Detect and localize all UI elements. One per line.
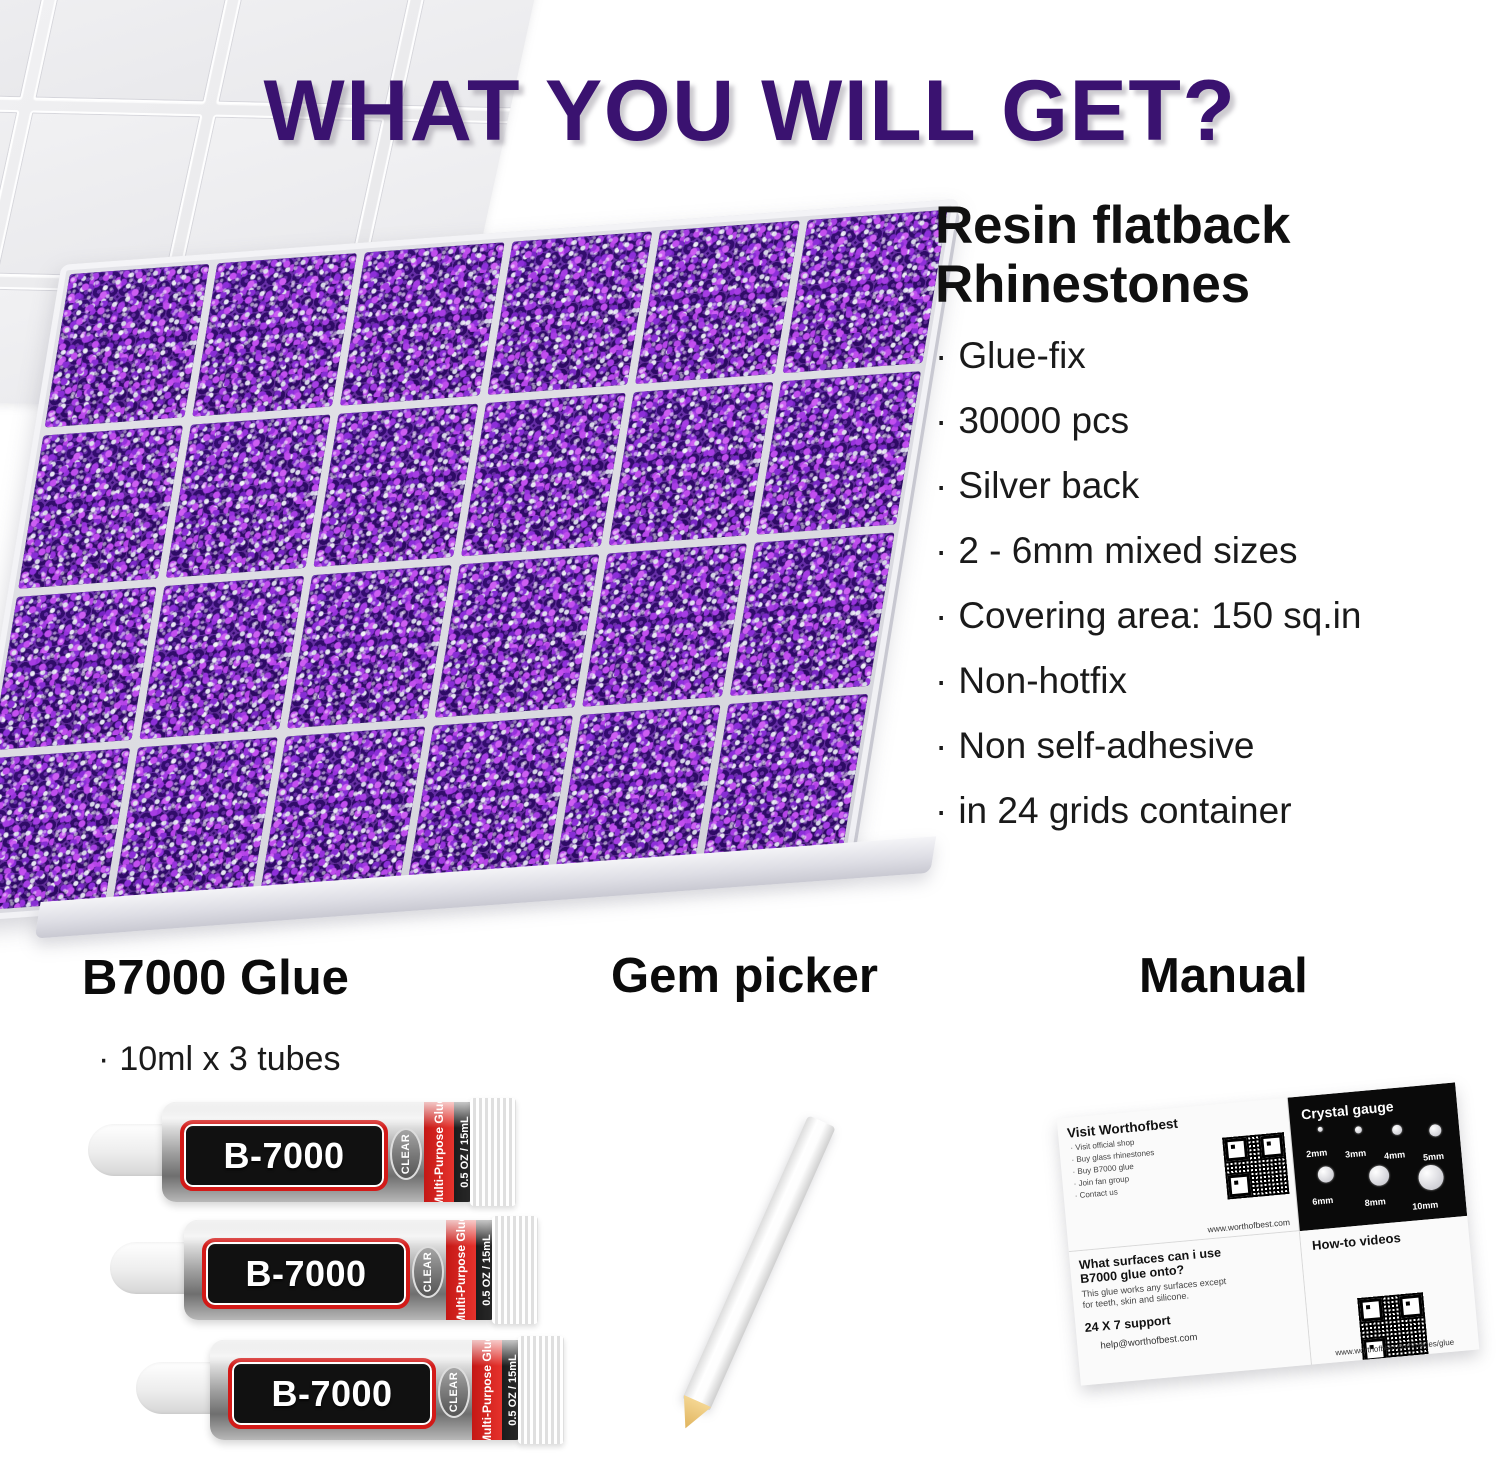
grid-cell: [313, 404, 478, 568]
tube-body: B-7000 CLEAR Multi-Purpose Glue 0.5 OZ /…: [184, 1220, 494, 1320]
section-heading-glue: B7000 Glue: [82, 950, 349, 1006]
grid-cell: [609, 382, 774, 546]
tube-brand-text: B-7000: [184, 1135, 384, 1177]
glue-quantity-text: 10ml x 3 tubes: [119, 1040, 340, 1078]
bullet-dot-icon: ·: [935, 662, 947, 699]
grid-cell: [487, 231, 652, 395]
grid-cell: [703, 694, 868, 858]
bullet-dot-icon: ·: [935, 532, 947, 569]
tube-brand-plate: B-7000: [228, 1358, 436, 1429]
videos-heading: How-to videos: [1311, 1225, 1460, 1253]
manual-quadrant-videos: How-to videos www.worthofbest.com/pages/…: [1300, 1216, 1480, 1365]
gauge-gem: [1417, 1164, 1444, 1191]
grid-cell: [113, 737, 278, 901]
spec-bullet-text: Silver back: [958, 465, 1139, 506]
gauge-gem: [1428, 1123, 1441, 1136]
grid-cell: [730, 532, 895, 696]
spec-bullet-item: ·in 24 grids container: [935, 792, 1480, 829]
grid-cell: [0, 748, 130, 912]
bullet-dot-icon: ·: [98, 1040, 109, 1078]
tube-brand-text: B-7000: [232, 1373, 432, 1415]
crystal-gauge-chart: 2mm 3mm 4mm 5mm 6mm 8mm 10mm: [1290, 1108, 1467, 1227]
rhinestone-grid: [0, 210, 947, 912]
qr-code-shop: [1222, 1132, 1289, 1199]
grid-cell: [556, 705, 721, 869]
spec-bullet-item: ·Covering area: 150 sq.in: [935, 597, 1480, 634]
grid-cell: [461, 393, 626, 557]
gem-picker-pencil: [682, 1115, 835, 1410]
spec-bullet-item: ·2 - 6mm mixed sizes: [935, 532, 1480, 569]
pencil-wax-tip: [672, 1395, 712, 1435]
grid-cell: [0, 587, 157, 751]
tube-brand-plate: B-7000: [180, 1120, 388, 1191]
spec-bullet-list: ·Glue-fix ·30000 pcs ·Silver back ·2 - 6…: [935, 337, 1480, 829]
spec-bullet-item: ·Non-hotfix: [935, 662, 1480, 699]
visit-url: www.worthofbest.com: [1207, 1217, 1290, 1234]
grid-cell: [45, 264, 210, 428]
gauge-label: 10mm: [1412, 1200, 1439, 1212]
tube-purpose-strip: Multi-Purpose Glue: [424, 1102, 454, 1202]
gauge-gem: [1368, 1165, 1390, 1187]
tube-body: B-7000 CLEAR Multi-Purpose Glue 0.5 OZ /…: [210, 1340, 520, 1440]
gauge-label: 3mm: [1345, 1148, 1367, 1160]
grid-cell: [635, 221, 800, 385]
gem-picker-photo: [648, 1090, 948, 1440]
grid-cell: [340, 242, 505, 406]
spec-bullet-text: Glue-fix: [958, 335, 1085, 376]
gauge-gem: [1391, 1125, 1402, 1136]
section-heading-gem-picker: Gem picker: [611, 948, 878, 1004]
manual-card-photo: Visit Worthofbest · Visit official shop …: [1068, 1100, 1480, 1400]
tube-clear-badge: CLEAR: [438, 1366, 470, 1418]
section-heading-manual: Manual: [1139, 948, 1308, 1004]
grid-cell: [783, 210, 948, 374]
gauge-label: 5mm: [1423, 1150, 1445, 1162]
glue-tube: B-7000 CLEAR Multi-Purpose Glue 0.5 OZ /…: [110, 1216, 540, 1324]
spec-panel: Resin flatback Rhinestones ·Glue-fix ·30…: [935, 196, 1480, 857]
bullet-dot-icon: ·: [935, 597, 947, 634]
glue-tube: B-7000 CLEAR Multi-Purpose Glue 0.5 OZ /…: [136, 1336, 566, 1444]
manual-card: Visit Worthofbest · Visit official shop …: [1057, 1082, 1480, 1385]
gauge-gem: [1354, 1126, 1362, 1134]
spec-bullet-text: Non self-adhesive: [958, 725, 1254, 766]
grid-cell: [261, 726, 426, 890]
tube-crimp: [470, 1098, 516, 1206]
tube-purpose-strip: Multi-Purpose Glue: [472, 1340, 502, 1440]
glue-quantity-bullet: ·10ml x 3 tubes: [98, 1040, 340, 1079]
spec-heading-line1: Resin flatback: [935, 196, 1290, 255]
bullet-dot-icon: ·: [935, 467, 947, 504]
tube-clear-badge: CLEAR: [412, 1246, 444, 1298]
page-title: WHAT YOU WILL GET?: [0, 62, 1500, 161]
gauge-label: 6mm: [1312, 1195, 1334, 1207]
grid-cell: [139, 576, 304, 740]
gauge-label: 4mm: [1384, 1150, 1406, 1162]
grid-cell: [192, 253, 357, 417]
infographic-canvas: WHAT YOU WILL GET? Resin flatback Rhines…: [0, 0, 1500, 1473]
manual-quadrant-visit: Visit Worthofbest · Visit official shop …: [1057, 1098, 1300, 1252]
manual-quadrant-faq: What surfaces can i use B7000 glue onto?…: [1069, 1231, 1312, 1385]
tube-crimp: [492, 1216, 538, 1324]
gauge-gem: [1318, 1166, 1335, 1183]
tube-purpose-strip: Multi-Purpose Glue: [446, 1220, 476, 1320]
bullet-dot-icon: ·: [935, 337, 947, 374]
manual-quadrant-gauge: Crystal gauge 2mm 3mm 4mm 5mm 6mm 8mm 10…: [1288, 1082, 1468, 1231]
gauge-label: 2mm: [1306, 1147, 1328, 1159]
grid-cell: [287, 565, 452, 729]
spec-bullet-item: ·30000 pcs: [935, 402, 1480, 439]
tube-brand-plate: B-7000: [202, 1238, 410, 1309]
spec-bullet-item: ·Glue-fix: [935, 337, 1480, 374]
spec-bullet-text: Non-hotfix: [958, 660, 1127, 701]
grid-cell: [582, 543, 747, 707]
spec-bullet-text: 2 - 6mm mixed sizes: [958, 530, 1297, 571]
bullet-dot-icon: ·: [935, 792, 947, 829]
spec-bullet-text: Covering area: 150 sq.in: [958, 595, 1361, 636]
gauge-gem: [1317, 1127, 1322, 1132]
tube-brand-text: B-7000: [206, 1253, 406, 1295]
glue-tube: B-7000 CLEAR Multi-Purpose Glue 0.5 OZ /…: [88, 1098, 518, 1206]
container-tray: [0, 199, 959, 923]
spec-bullet-text: in 24 grids container: [958, 790, 1291, 831]
bullet-dot-icon: ·: [935, 402, 947, 439]
spec-bullet-item: ·Non self-adhesive: [935, 727, 1480, 764]
spec-bullet-item: ·Silver back: [935, 467, 1480, 504]
spec-heading-line2: Rhinestones: [935, 255, 1250, 314]
gauge-label: 8mm: [1364, 1196, 1386, 1208]
tube-clear-badge: CLEAR: [390, 1128, 422, 1180]
tube-body: B-7000 CLEAR Multi-Purpose Glue 0.5 OZ /…: [162, 1102, 472, 1202]
glue-tubes-photo: B-7000 CLEAR Multi-Purpose Glue 0.5 OZ /…: [60, 1098, 580, 1458]
grid-cell: [435, 554, 600, 718]
spec-heading: Resin flatback Rhinestones: [935, 196, 1480, 315]
grid-cell: [18, 425, 183, 589]
bullet-dot-icon: ·: [935, 727, 947, 764]
grid-cell: [408, 716, 573, 880]
grid-cell: [166, 414, 331, 578]
grid-cell: [756, 371, 921, 535]
tube-crimp: [518, 1336, 564, 1444]
spec-bullet-text: 30000 pcs: [958, 400, 1129, 441]
